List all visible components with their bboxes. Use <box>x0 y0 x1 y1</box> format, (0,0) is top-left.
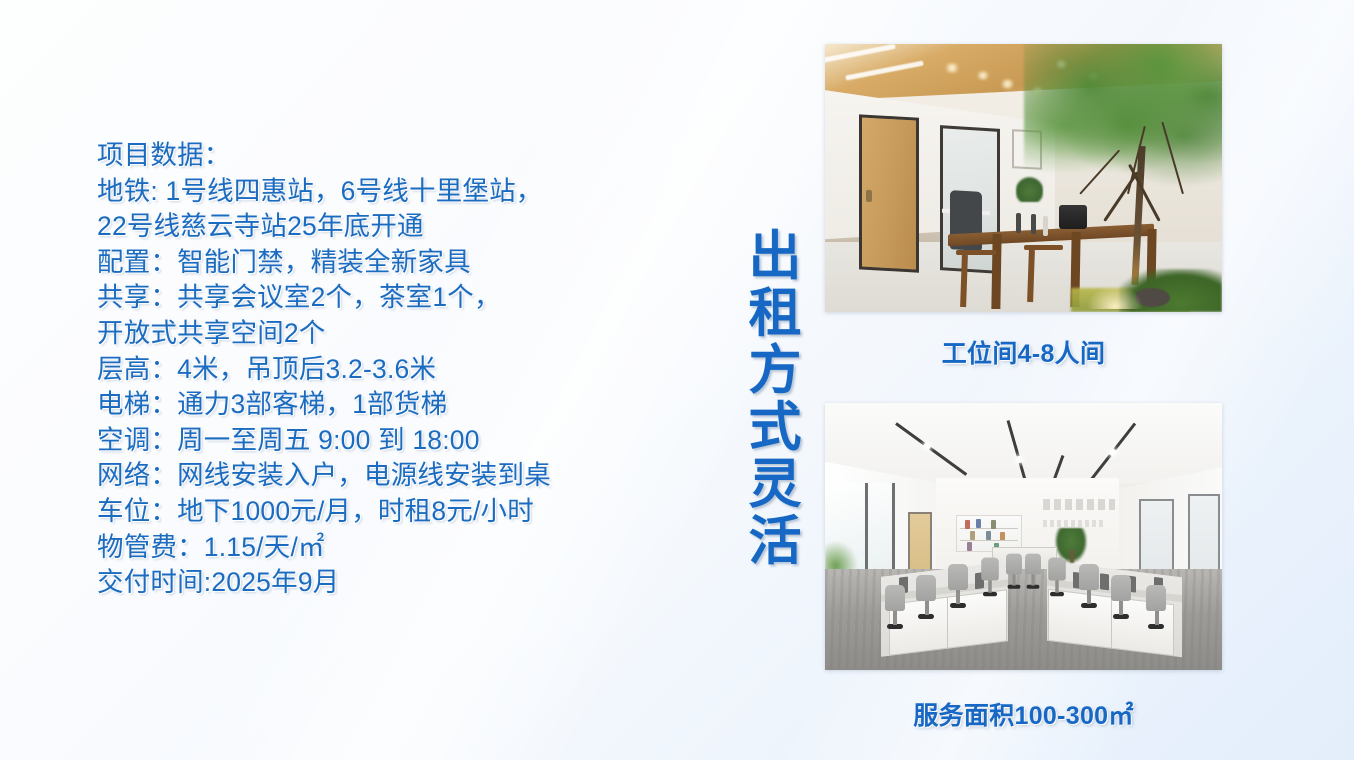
info-line-ceiling: 层高：4米，吊顶后3.2-3.6米 <box>97 352 657 388</box>
office-chair <box>1025 553 1041 574</box>
info-line-parking: 车位：地下1000元/月，时租8元/小时 <box>97 494 657 530</box>
bar-table-leg <box>991 234 1001 309</box>
office-chair <box>1146 585 1166 611</box>
headline-char-2: 租 <box>742 285 808 342</box>
headline-char-3: 方 <box>742 342 808 399</box>
office-chair <box>1006 553 1022 574</box>
office-chair <box>1111 575 1131 601</box>
info-line-elevator: 电梯：通力3部客梯，1部货梯 <box>97 387 657 423</box>
office-chair <box>885 585 905 611</box>
table-bottle <box>1031 214 1036 234</box>
open-plan-office-desks-photo <box>825 403 1222 670</box>
bar-stool <box>1024 245 1064 250</box>
shelf-item <box>970 531 975 540</box>
info-line-property-fee: 物管费：1.15/天/㎡ <box>97 530 657 566</box>
photo-2-caption: 服务面积100-300㎡ <box>825 696 1222 732</box>
ceiling-downlight <box>1000 79 1015 89</box>
garden-uplight <box>1087 285 1143 309</box>
monitor <box>1100 573 1109 590</box>
info-line-shared-1: 共享：共享会议室2个，茶室1个， <box>97 280 657 316</box>
photo-1-caption: 工位间4-8人间 <box>825 334 1222 370</box>
info-line-delivery: 交付时间:2025年9月 <box>97 565 657 601</box>
wooden-door <box>859 115 919 274</box>
headline-char-4: 式 <box>742 399 808 456</box>
ceiling-downlight <box>976 71 990 80</box>
shelf-item <box>991 520 996 529</box>
info-line-facilities: 配置：智能门禁，精装全新家具 <box>97 245 657 281</box>
office-chair <box>981 557 999 580</box>
office-lobby-with-tree-photo <box>825 44 1222 312</box>
shelf-item <box>986 531 991 540</box>
indoor-tree-canopy <box>1024 44 1223 205</box>
office-chair <box>916 575 936 601</box>
open-office-scene <box>825 403 1222 670</box>
info-line-title: 项目数据： <box>97 138 657 174</box>
project-data-text-block: 项目数据： 地铁: 1号线四惠站，6号线十里堡站， 22号线慈云寺站25年底开通… <box>97 138 657 601</box>
office-chair <box>1079 564 1099 590</box>
info-line-network: 网络：网线安装入户，电源线安装到桌 <box>97 458 657 494</box>
office-chair <box>948 564 968 590</box>
shelf-item <box>967 542 972 551</box>
wall-slogan-text <box>1043 499 1114 510</box>
info-line-metro-2: 22号线慈云寺站25年底开通 <box>97 209 657 245</box>
table-bottle <box>1016 213 1021 233</box>
wall-paragraph-text <box>1043 520 1103 527</box>
shelf-item <box>976 519 981 528</box>
slide-canvas: 项目数据： 地铁: 1号线四惠站，6号线十里堡站， 22号线慈云寺站25年底开通… <box>0 0 1354 760</box>
info-line-metro-1: 地铁: 1号线四惠站，6号线十里堡站， <box>97 174 657 210</box>
lobby-scene <box>825 44 1222 312</box>
headline-char-5: 灵 <box>742 456 808 513</box>
bar-stool <box>956 250 996 255</box>
office-chair <box>1048 557 1066 580</box>
headline-char-6: 活 <box>742 513 808 570</box>
desk-pedestal <box>1048 589 1112 649</box>
headline-char-1: 出 <box>742 228 808 285</box>
table-bottle <box>1043 216 1048 236</box>
vertical-headline: 出 租 方 式 灵 活 <box>742 228 808 570</box>
info-line-aircon: 空调：周一至周五 9:00 到 18:00 <box>97 423 657 459</box>
shelf-item <box>965 520 970 529</box>
info-line-shared-2: 开放式共享空间2个 <box>97 316 657 352</box>
coffee-machine <box>1059 205 1087 229</box>
ceiling-downlight <box>944 63 960 73</box>
shelf-item <box>1000 532 1005 541</box>
